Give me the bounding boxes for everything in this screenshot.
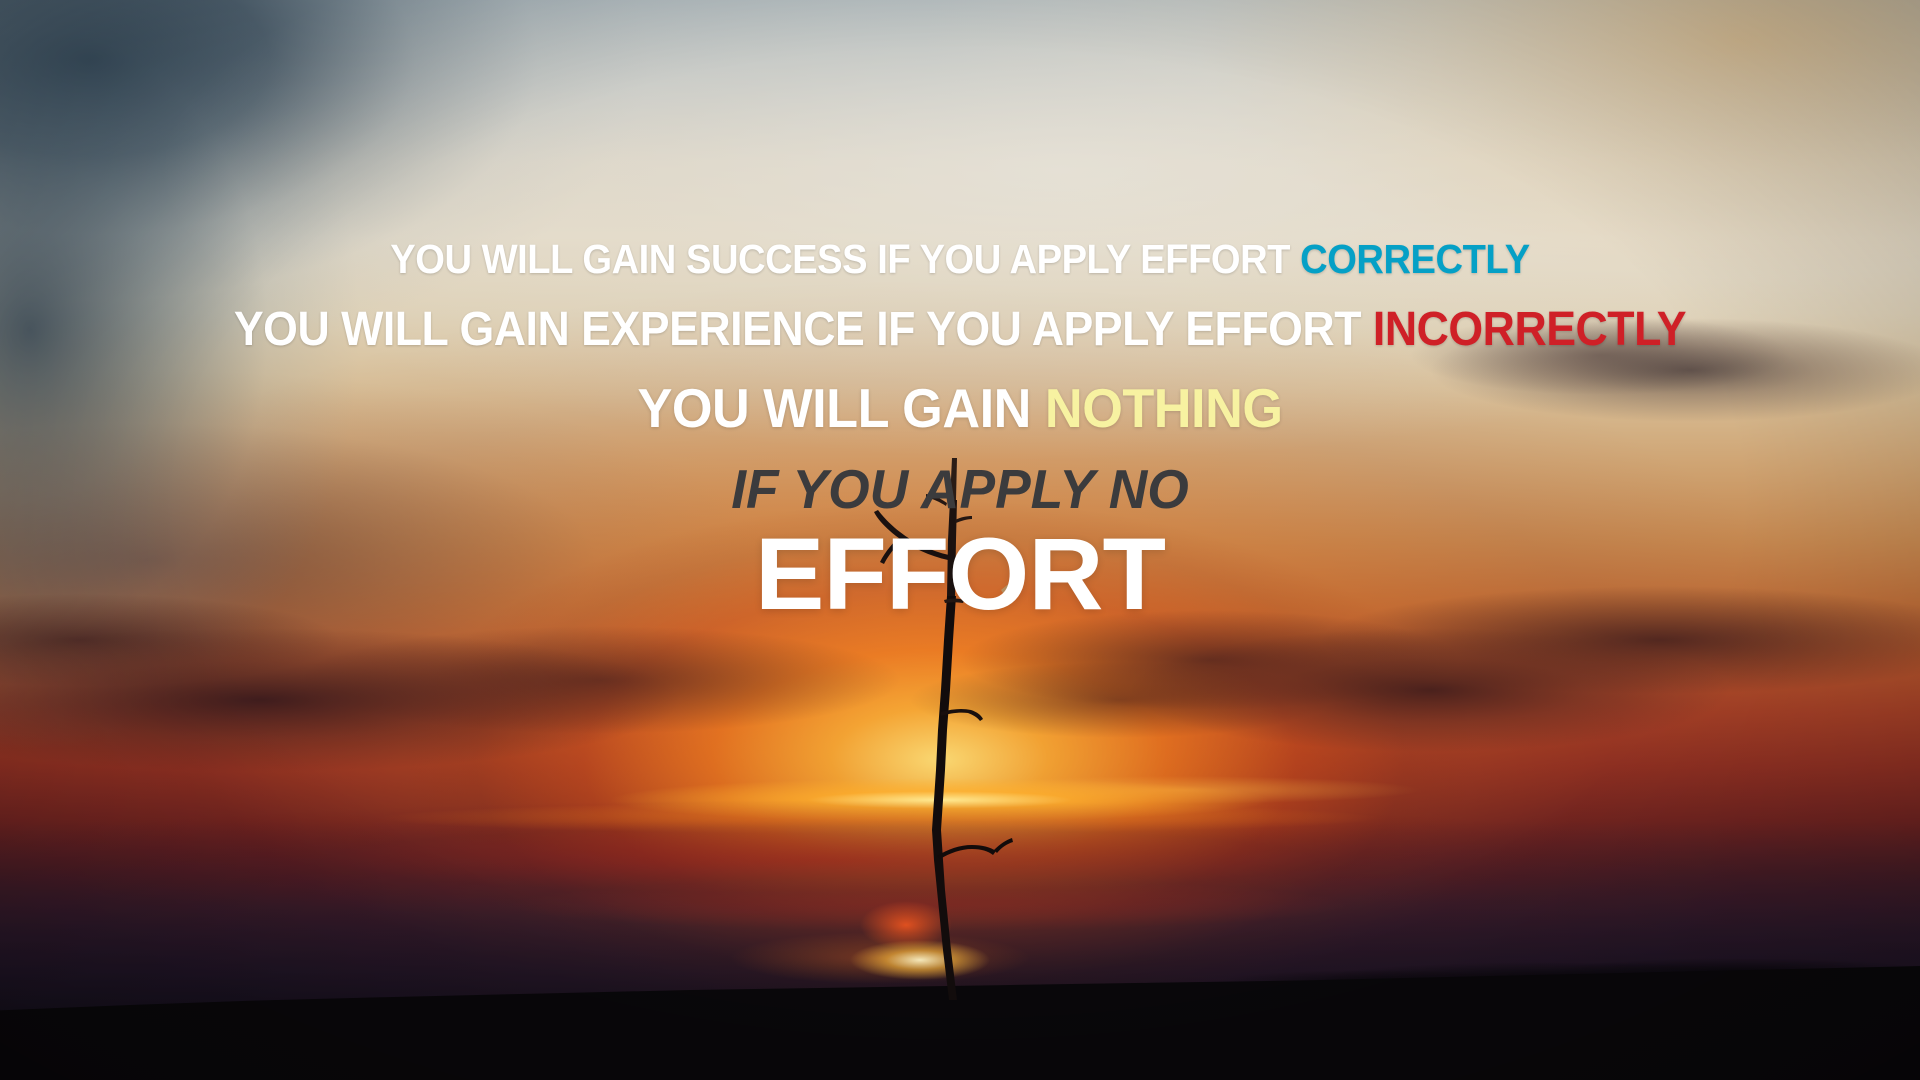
quote-line-3: YOU WILL GAIN NOTHING (48, 381, 1872, 436)
tree-twig-lower-right-fork (994, 838, 1013, 853)
quote-line-4: IF YOU APPLY NO (29, 462, 1891, 517)
quote-line-3-plain: YOU WILL GAIN (637, 377, 1044, 439)
quote-line-1-accent: CORRECTLY (1300, 236, 1530, 282)
tree-twig-lower-right (937, 845, 996, 859)
tree-twig-mid-right (941, 709, 983, 721)
quote-line-1-plain: YOU WILL GAIN SUCCESS IF YOU APPLY EFFOR… (390, 236, 1300, 282)
poster-canvas: YOU WILL GAIN SUCCESS IF YOU APPLY EFFOR… (0, 0, 1920, 1080)
quote-line-2: YOU WILL GAIN EXPERIENCE IF YOU APPLY EF… (67, 306, 1853, 354)
quote-line-3-accent: NOTHING (1045, 377, 1283, 439)
quote-line-1: YOU WILL GAIN SUCCESS IF YOU APPLY EFFOR… (67, 239, 1853, 280)
quote-line-2-plain: YOU WILL GAIN EXPERIENCE IF YOU APPLY EF… (234, 303, 1373, 356)
quote-line-5-effort: EFFORT (0, 523, 1920, 625)
quote-line-2-accent: INCORRECTLY (1373, 303, 1686, 356)
